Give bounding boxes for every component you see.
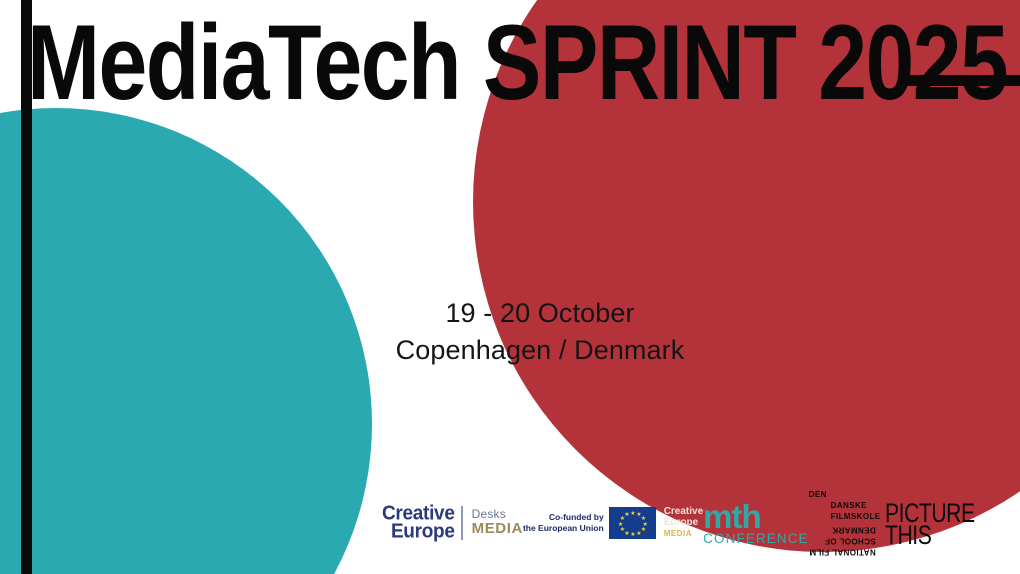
filmskole-danish-name: DEN DANSKE FILMSKOLE (809, 490, 885, 522)
desks-media-wordmark: Desks MEDIA (469, 508, 523, 538)
event-location: Copenhagen / Denmark (310, 332, 770, 369)
picture-this-word-this: THIS (885, 523, 931, 548)
filmskole-en-line-1: NATIONAL FILM (809, 545, 876, 556)
co-funded-line-2: the European Union (523, 523, 604, 534)
event-details: 19 - 20 October Copenhagen / Denmark (310, 295, 770, 370)
co-funded-text: Co-funded by the European Union (523, 512, 604, 533)
creative-europe-word-europe: Europe (391, 522, 455, 542)
filmskole-en-line-3: DENMARK (809, 524, 876, 535)
filmskole-line-2: FILMSKOLE (809, 512, 885, 523)
eu-europe-label: Europe (664, 518, 703, 529)
creative-europe-wordmark: Creative Europe (382, 505, 455, 541)
eu-creative-europe-wordmark: Creative Europe MEDIA (661, 507, 703, 539)
desks-label: Desks (472, 508, 523, 521)
eu-media-label: MEDIA (664, 530, 703, 539)
poster-canvas: MediaTech SPRINT 2025 19 - 20 October Co… (0, 0, 1020, 574)
filmskole-word-den: DEN (809, 490, 827, 499)
page-title: MediaTech SPRINT 2025 (27, 11, 1006, 115)
logo-den-danske-filmskole: DEN DANSKE FILMSKOLE NATIONAL FILM SCHOO… (809, 490, 885, 556)
co-funded-line-1: Co-funded by (523, 512, 604, 523)
sponsor-logo-strip: Creative Europe Desks MEDIA Co-funded by… (382, 492, 982, 554)
logo-creative-europe-desks-media: Creative Europe Desks MEDIA (382, 505, 523, 541)
mth-wordmark: mth (703, 500, 761, 533)
logo-picture-this: PICTURE THIS (885, 501, 982, 544)
logo-divider (461, 506, 463, 540)
media-label: MEDIA (472, 521, 523, 538)
mth-conference-label: CONFERENCE (703, 532, 809, 546)
logo-co-funded-european-union: Co-funded by the European Union ★ ★ ★ ★ … (523, 507, 703, 539)
filmskole-english-name: NATIONAL FILM SCHOOL OF DENMARK (809, 524, 876, 556)
filmskole-en-line-2: SCHOOL OF (809, 534, 876, 545)
filmskole-word-danske: DANSKE (809, 501, 867, 510)
logo-mth-conference: mth CONFERENCE (703, 500, 809, 546)
eu-flag-icon: ★ ★ ★ ★ ★ ★ ★ ★ ★ ★ ★ ★ (609, 507, 656, 539)
event-date: 19 - 20 October (310, 295, 770, 332)
filmskole-line-1: DEN DANSKE (809, 490, 885, 512)
